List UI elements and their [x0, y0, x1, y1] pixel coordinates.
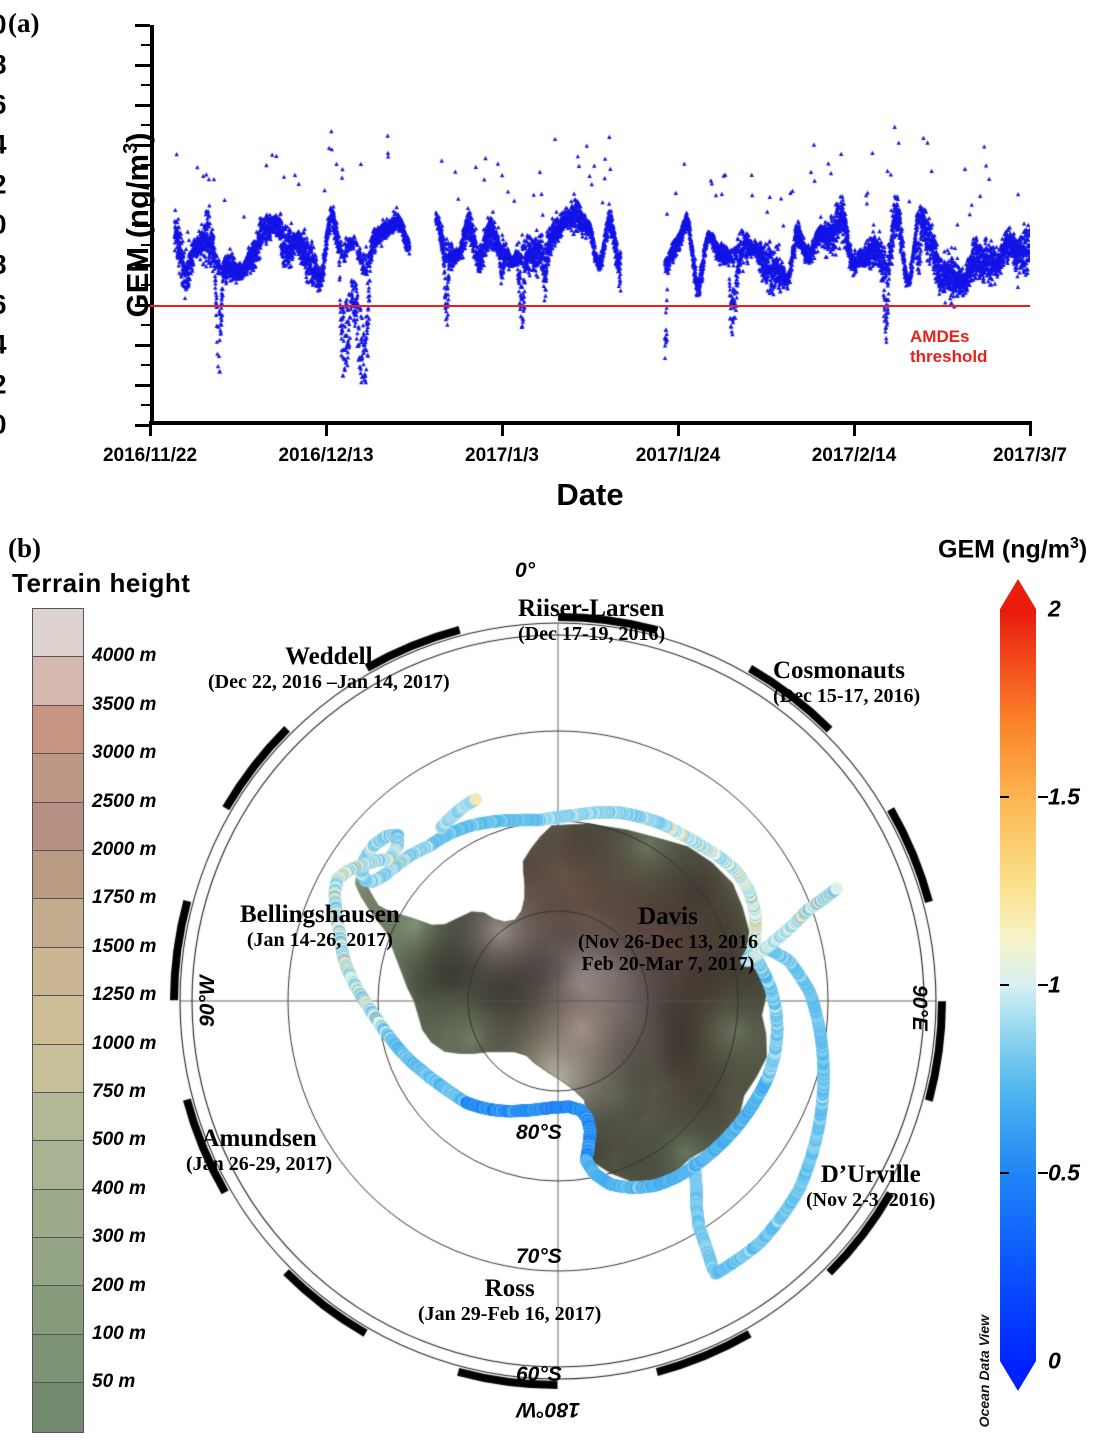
terrain-legend-label: 500 m — [92, 1129, 146, 1151]
y-tick-label: 0.6 — [0, 290, 6, 321]
terrain-color-swatch — [33, 1238, 83, 1286]
antarctica-polar-map: 0° 90°E 180°W 90°W 60°S 70°S 80°S Riiser… — [168, 565, 968, 1435]
cruise-name: Davis — [578, 903, 758, 931]
cruise-name: D’Urville — [806, 1161, 935, 1189]
terrain-color-swatch — [33, 996, 83, 1044]
y-tick-minor — [141, 364, 150, 366]
terrain-color-swatch — [33, 657, 83, 705]
terrain-color-swatch — [33, 706, 83, 754]
graticule-label-80s: 80°S — [516, 1121, 562, 1145]
cruise-name: Ross — [418, 1275, 601, 1303]
terrain-color-swatch — [33, 1335, 83, 1383]
terrain-color-swatch — [33, 899, 83, 947]
y-tick — [135, 64, 150, 67]
x-tick-label: 2016/12/13 — [278, 445, 373, 467]
graticule-label-180w: 180°W — [517, 1397, 580, 1421]
y-tick-minor — [141, 324, 150, 326]
threshold-label-line1: AMDEs — [910, 327, 970, 346]
cruise-dates-2: Feb 20-Mar 7, 2017) — [578, 953, 758, 975]
y-tick-minor — [141, 404, 150, 406]
terrain-color-swatch — [33, 948, 83, 996]
x-tick-label: 2017/2/14 — [812, 445, 897, 467]
gem-tick-mark-inner — [1000, 796, 1009, 798]
terrain-color-swatch — [33, 1190, 83, 1238]
cruise-label-davis: Davis (Nov 26-Dec 13, 2016 Feb 20-Mar 7,… — [578, 903, 758, 976]
graticule-label-0: 0° — [515, 559, 535, 583]
gem-tick-mark — [1038, 984, 1048, 986]
panel-a-timeseries: (a) 0.00.20.40.60.81.01.21.41.61.82.0 20… — [0, 0, 1118, 515]
terrain-legend-label: 2000 m — [92, 839, 156, 861]
threshold-label-line2: threshold — [910, 347, 987, 366]
cruise-label-cosmonauts: Cosmonauts (Dec 15-17, 2016) — [773, 657, 920, 707]
cruise-name: Amundsen — [186, 1125, 332, 1153]
scatter-points — [150, 25, 1030, 425]
cruise-dates: (Dec 15-17, 2016) — [773, 685, 920, 707]
y-tick — [135, 24, 150, 27]
panel-b-map: (b) Terrain height 4000 m3500 m3000 m250… — [0, 515, 1118, 1437]
gem-tick-mark-inner — [1000, 984, 1009, 986]
panel-a-tag: (a) — [8, 8, 39, 39]
x-tick-label: 2017/1/3 — [465, 445, 539, 467]
gem-tick-label: 2 — [1048, 596, 1061, 623]
terrain-color-swatch — [33, 1141, 83, 1189]
gem-tick-label: 0.5 — [1048, 1160, 1080, 1187]
cruise-dates-1: (Nov 26-Dec 13, 2016 — [578, 931, 758, 953]
terrain-legend-label: 50 m — [92, 1371, 135, 1393]
gem-tick-mark — [1038, 796, 1048, 798]
terrain-legend-label: 1500 m — [92, 936, 156, 958]
y-tick-minor — [141, 44, 150, 46]
terrain-legend-label: 4000 m — [92, 645, 156, 667]
terrain-color-swatch — [33, 609, 83, 657]
graticule-label-90e: 90°E — [907, 985, 931, 1031]
graticule-label-70s: 70°S — [516, 1245, 562, 1269]
y-tick-label: 1.8 — [0, 50, 6, 81]
terrain-legend-label: 3500 m — [92, 694, 156, 716]
terrain-legend-label: 300 m — [92, 1226, 146, 1248]
x-tick-label: 2016/11/22 — [103, 445, 197, 467]
x-tick-label: 2017/3/7 — [993, 445, 1067, 467]
gem-colorbar-cap-bottom-icon — [1000, 1361, 1036, 1391]
terrain-color-swatch — [33, 754, 83, 802]
terrain-color-swatch — [33, 851, 83, 899]
terrain-legend-label: 1750 m — [92, 887, 156, 909]
cruise-label-weddell: Weddell (Dec 22, 2016 –Jan 14, 2017) — [208, 643, 450, 693]
terrain-legend-label: 1250 m — [92, 984, 156, 1006]
terrain-legend-label: 750 m — [92, 1081, 146, 1103]
cruise-name: Cosmonauts — [773, 657, 920, 685]
scatter-plot-frame: 0.00.20.40.60.81.01.21.41.61.82.0 2016/1… — [150, 25, 1030, 425]
y-tick-label: 1.6 — [0, 90, 6, 121]
terrain-legend-label: 100 m — [92, 1323, 146, 1345]
cruise-label-durville: D’Urville (Nov 2-3, 2016) — [806, 1161, 935, 1211]
terrain-legend-label: 2500 m — [92, 791, 156, 813]
graticule-label-60s: 60°S — [516, 1363, 562, 1387]
terrain-color-swatch — [33, 1286, 83, 1334]
cruise-dates: (Dec 22, 2016 –Jan 14, 2017) — [208, 671, 450, 693]
terrain-legend-title: Terrain height — [12, 568, 190, 599]
y-tick-minor — [141, 84, 150, 86]
cruise-label-ross: Ross (Jan 29-Feb 16, 2017) — [418, 1275, 601, 1325]
y-tick-label: 0.2 — [0, 370, 6, 401]
cruise-dates: (Nov 2-3, 2016) — [806, 1189, 935, 1211]
y-tick — [135, 104, 150, 107]
gem-tick-mark-inner — [1000, 1172, 1009, 1174]
panel-b-tag: (b) — [8, 533, 41, 564]
terrain-color-swatch — [33, 1045, 83, 1093]
y-tick-label: 1.4 — [0, 130, 6, 161]
y-tick-minor — [141, 124, 150, 126]
cruise-label-amundsen: Amundsen (Jan 26-29, 2017) — [186, 1125, 332, 1175]
y-tick-label: 0.4 — [0, 330, 6, 361]
cruise-name: Bellingshausen — [240, 901, 400, 929]
cruise-dates: (Jan 29-Feb 16, 2017) — [418, 1303, 601, 1325]
y-tick-label: 0.0 — [0, 410, 6, 441]
gem-tick-label: 0 — [1048, 1348, 1061, 1375]
cruise-dates: (Jan 26-29, 2017) — [186, 1153, 332, 1175]
terrain-legend-label: 200 m — [92, 1275, 146, 1297]
y-tick-label: 1.0 — [0, 210, 6, 241]
terrain-legend-label: 400 m — [92, 1178, 146, 1200]
terrain-color-swatch — [33, 803, 83, 851]
terrain-color-swatch — [33, 1093, 83, 1141]
graticule-label-90w: 90°W — [196, 975, 220, 1027]
cruise-name: Riiser-Larsen — [518, 595, 665, 623]
gem-tick-label: 1.5 — [1048, 784, 1080, 811]
cruise-label-bellingshausen: Bellingshausen (Jan 14-26, 2017) — [240, 901, 400, 951]
odv-watermark: Ocean Data View — [976, 1315, 992, 1427]
amdes-threshold-line — [150, 305, 1030, 307]
cruise-dates: (Jan 14-26, 2017) — [240, 929, 400, 951]
cruise-name: Weddell — [208, 643, 450, 671]
y-tick — [135, 344, 150, 347]
x-axis-title: Date — [556, 477, 623, 513]
terrain-legend-label: 3000 m — [92, 742, 156, 764]
amdes-threshold-label: AMDEs threshold — [910, 327, 987, 366]
gem-tick-mark — [1038, 1172, 1048, 1174]
x-tick-label: 2017/1/24 — [636, 445, 721, 467]
y-tick-label: 2.0 — [0, 10, 6, 41]
y-tick — [135, 384, 150, 387]
gem-tick-label: 1 — [1048, 972, 1061, 999]
y-tick-label: 1.2 — [0, 170, 6, 201]
cruise-label-riiser-larsen: Riiser-Larsen (Dec 17-19, 2016) — [518, 595, 665, 645]
terrain-colorbar — [32, 608, 84, 1433]
terrain-color-swatch — [33, 1383, 83, 1431]
gem-colorbar-title: GEM (ng/m3) — [938, 535, 1087, 564]
terrain-legend-label: 1000 m — [92, 1033, 156, 1055]
cruise-dates: (Dec 17-19, 2016) — [518, 623, 665, 645]
gem-colorbar-cap-top-icon — [1000, 579, 1036, 609]
y-tick-label: 0.8 — [0, 250, 6, 281]
